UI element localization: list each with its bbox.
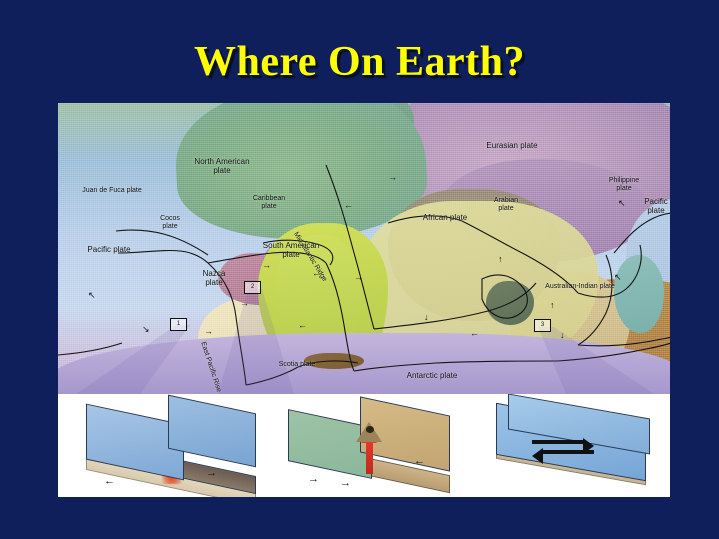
map-label-pacific-plate-west: Pacific plate: [66, 245, 152, 254]
map-label-nazca-plate: Nazca plate: [186, 269, 242, 287]
tectonics-figure: Mid-Atlantic Ridge East Pacific Rise Jua…: [58, 103, 670, 497]
inset-transform-boundary[interactable]: [486, 400, 654, 492]
motion-arrow-icon: ↓: [424, 313, 429, 322]
motion-arrow-icon: →: [354, 273, 363, 282]
map-marker-1[interactable]: 1: [170, 318, 187, 331]
block-diagram-strip: ← → → → ←: [58, 394, 670, 497]
motion-arrow-icon: ↖: [88, 291, 96, 300]
map-label-scotia-plate: Scotia plate: [264, 361, 330, 369]
world-map: Mid-Atlantic Ridge East Pacific Rise Jua…: [58, 103, 670, 394]
subduction-arrow-right-icon: ←: [414, 456, 425, 467]
motion-arrow-icon: →: [240, 299, 249, 308]
spreading-arrow-left-icon: ←: [104, 476, 115, 487]
motion-arrow-icon: ↓: [560, 331, 565, 340]
page-title: Where On Earth?: [0, 38, 719, 86]
subduction-arrow-left-icon: →: [308, 474, 319, 485]
map-marker-2[interactable]: 2: [244, 281, 261, 294]
motion-arrow-icon: ←: [344, 201, 353, 210]
map-label-cocos-plate: Cocos plate: [146, 215, 194, 231]
motion-arrow-icon: →: [262, 261, 271, 270]
motion-arrow-icon: ↖: [618, 199, 626, 208]
map-label-australian-indian-plate: Australian-Indian plate: [518, 283, 642, 291]
map-label-south-american-plate: South American plate: [242, 241, 340, 259]
motion-arrow-icon: ↑: [498, 255, 503, 264]
spreading-arrow-right-icon: →: [206, 468, 217, 479]
magma-chamber-icon: [366, 440, 373, 474]
strike-slip-arrow-left-icon: [542, 450, 594, 454]
map-label-juan-de-fuca-plate: Juan de Fuca plate: [64, 187, 160, 195]
inset-divergent-boundary[interactable]: ← →: [76, 400, 256, 492]
map-label-philippine-plate: Philippine plate: [596, 177, 652, 193]
motion-arrow-icon: →: [388, 173, 397, 182]
map-marker-3[interactable]: 3: [534, 319, 551, 332]
map-label-antarctic-plate: Antarctic plate: [388, 371, 476, 380]
volcano-vent-icon: [366, 426, 374, 433]
map-label-eurasian-plate: Eurasian plate: [464, 141, 560, 150]
inset-convergent-boundary[interactable]: → → ←: [282, 400, 452, 492]
motion-arrow-icon: ←: [470, 329, 479, 338]
motion-arrow-icon: ←: [298, 321, 307, 330]
map-label-arabian-plate: Arabian plate: [484, 197, 528, 213]
subduction-arrow-mid-icon: →: [340, 478, 351, 489]
motion-arrow-icon: →: [204, 327, 213, 336]
motion-arrow-icon: ↑: [550, 301, 555, 310]
map-label-caribbean-plate: Caribbean plate: [238, 195, 300, 211]
motion-arrow-icon: ↘: [142, 325, 150, 334]
motion-arrow-icon: ↖: [614, 273, 622, 282]
map-label-pacific-plate-east: Pacific plate: [634, 197, 670, 215]
map-label-african-plate: African plate: [404, 213, 486, 222]
map-label-north-american-plate: North American plate: [174, 157, 270, 175]
strike-slip-arrow-right-icon: [532, 440, 584, 444]
